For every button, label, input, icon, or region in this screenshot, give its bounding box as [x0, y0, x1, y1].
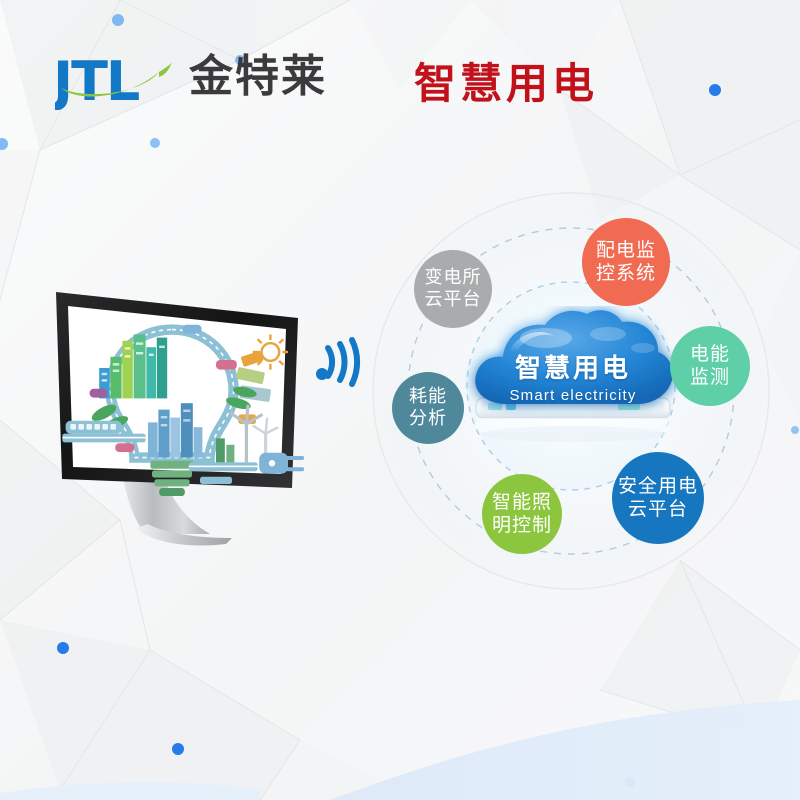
node-label-line2: 云平台 — [425, 289, 482, 311]
smart-electricity-ecosystem: 智慧用电 Smart electricity 变电所 云平台 配电监 控系统 电… — [366, 186, 776, 596]
node-label-line2: 明控制 — [492, 514, 552, 537]
wifi-signal-icon — [312, 332, 374, 390]
node-safe-electricity-cloud[interactable]: 安全用电 云平台 — [612, 452, 704, 544]
jtl-logo-icon: JTL — [55, 44, 175, 110]
node-label-line1: 变电所 — [425, 267, 482, 289]
svg-text:JTL: JTL — [55, 50, 139, 110]
node-distribution-monitoring[interactable]: 配电监 控系统 — [582, 218, 670, 306]
node-label-line1: 配电监 — [596, 239, 656, 262]
cloud-label-en: Smart electricity — [458, 387, 688, 404]
page-title: 智慧用电 — [414, 50, 598, 111]
desktop-monitor — [50, 276, 330, 556]
poster-canvas: JTL 金特莱 智慧用电 — [0, 0, 800, 800]
node-label-line2: 分析 — [409, 408, 447, 430]
node-label-line1: 耗能 — [409, 386, 447, 408]
cloud-label: 智慧用电 Smart electricity — [458, 348, 688, 404]
node-smart-lighting-control[interactable]: 智能照 明控制 — [482, 474, 562, 554]
node-energy-consumption-analysis[interactable]: 耗能 分析 — [392, 372, 464, 444]
node-label-line2: 云平台 — [628, 498, 688, 521]
smart-electricity-cloud: 智慧用电 Smart electricity — [458, 306, 688, 466]
company-name-cn: 金特莱 — [189, 44, 327, 110]
brand-lockup: JTL 金特莱 — [55, 44, 327, 110]
node-label-line1: 安全用电 — [618, 475, 698, 498]
node-label-line1: 智能照 — [492, 491, 552, 514]
node-label-line1: 电能 — [690, 343, 730, 366]
node-label-line2: 监测 — [690, 366, 730, 389]
node-power-monitoring[interactable]: 电能 监测 — [670, 326, 750, 406]
node-label-line2: 控系统 — [596, 262, 656, 285]
cloud-label-cn: 智慧用电 — [458, 348, 688, 385]
tablet-device — [476, 398, 670, 442]
node-substation-cloud-platform[interactable]: 变电所 云平台 — [414, 250, 492, 328]
